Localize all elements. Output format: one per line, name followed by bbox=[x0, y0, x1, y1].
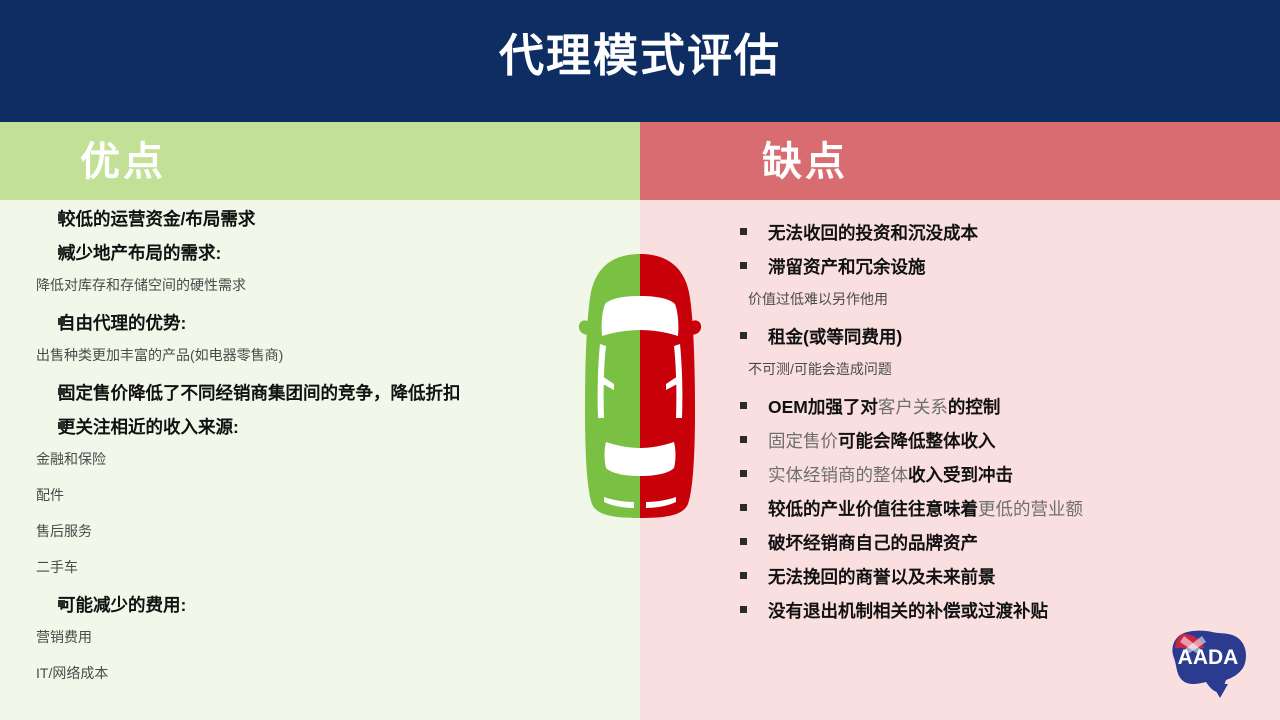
aada-australia-logo: AADA bbox=[1160, 612, 1256, 704]
bullet-square-icon bbox=[58, 388, 65, 395]
list-item: 较低的运营资金/布局需求 bbox=[0, 208, 255, 230]
list-item-label: 较低的运营资金/布局需求 bbox=[58, 208, 255, 230]
cons-heading: 缺点 bbox=[762, 128, 848, 198]
bullet-square-icon bbox=[740, 402, 747, 409]
list-subitem: IT/网络成本 bbox=[0, 664, 108, 682]
bullet-square-icon bbox=[58, 422, 65, 429]
list-item-label: OEM加强了对客户关系的控制 bbox=[768, 396, 1000, 418]
list-item-label: 租金(或等同费用) bbox=[768, 326, 902, 348]
list-item-label: 固定售价可能会降低整体收入 bbox=[768, 430, 996, 452]
car-top-view-split-icon bbox=[578, 252, 702, 520]
list-item-label: 没有退出机制相关的补偿或过渡补贴 bbox=[768, 600, 1048, 622]
list-item: 自由代理的优势: bbox=[0, 312, 186, 334]
bullet-square-icon bbox=[58, 318, 65, 325]
list-subitem-label: 金融和保险 bbox=[36, 450, 106, 468]
list-item-label: 自由代理的优势: bbox=[58, 312, 186, 334]
list-item-label: 滞留资产和冗余设施 bbox=[768, 256, 926, 278]
list-subitem: 出售种类更加丰富的产品(如电器零售商) bbox=[0, 346, 283, 364]
bullet-square-icon bbox=[740, 332, 747, 339]
list-item: 更关注相近的收入来源: bbox=[0, 416, 239, 438]
list-item: 较低的产业价值往往意味着更低的营业额 bbox=[640, 498, 1083, 520]
list-item: 无法收回的投资和沉没成本 bbox=[640, 222, 978, 244]
list-item-label: 实体经销商的整体收入受到冲击 bbox=[768, 464, 1013, 486]
list-item-label: 无法挽回的商誉以及未来前景 bbox=[768, 566, 996, 588]
list-item: 没有退出机制相关的补偿或过渡补贴 bbox=[640, 600, 1048, 622]
list-subitem: 降低对库存和存储空间的硬性需求 bbox=[0, 276, 246, 294]
pros-list: 较低的运营资金/布局需求减少地产布局的需求:降低对库存和存储空间的硬性需求自由代… bbox=[0, 200, 600, 720]
bullet-square-icon bbox=[58, 214, 65, 221]
bullet-square-icon bbox=[740, 470, 747, 477]
list-subitem-label: 不可测/可能会造成问题 bbox=[748, 360, 892, 378]
list-subitem: 金融和保险 bbox=[0, 450, 106, 468]
cons-header-band bbox=[640, 122, 1280, 200]
bullet-square-icon bbox=[740, 228, 747, 235]
list-subitem: 营销费用 bbox=[0, 628, 92, 646]
list-item-label: 较低的产业价值往往意味着更低的营业额 bbox=[768, 498, 1083, 520]
list-subitem-label: 出售种类更加丰富的产品(如电器零售商) bbox=[36, 346, 283, 364]
list-item-label: 减少地产布局的需求: bbox=[58, 242, 221, 264]
bullet-square-icon bbox=[740, 262, 747, 269]
slide-root: 代理模式评估 优点 缺点 较低的运营资金/布局需求减少地产布局的需求:降低对库存… bbox=[0, 0, 1280, 720]
list-item-label: 无法收回的投资和沉没成本 bbox=[768, 222, 978, 244]
list-item-label: 破坏经销商自己的品牌资产 bbox=[768, 532, 978, 554]
list-subitem-label: 营销费用 bbox=[36, 628, 92, 646]
list-item: 破坏经销商自己的品牌资产 bbox=[640, 532, 978, 554]
list-subitem-label: 配件 bbox=[36, 486, 64, 504]
list-subitem: 配件 bbox=[0, 486, 64, 504]
bullet-square-icon bbox=[740, 572, 747, 579]
list-item: 可能减少的费用: bbox=[0, 594, 186, 616]
list-item: 减少地产布局的需求: bbox=[0, 242, 221, 264]
list-subitem-label: 二手车 bbox=[36, 558, 78, 576]
bullet-square-icon bbox=[58, 600, 65, 607]
pros-heading: 优点 bbox=[80, 128, 166, 198]
list-subitem: 售后服务 bbox=[0, 522, 92, 540]
list-subitem: 二手车 bbox=[0, 558, 78, 576]
logo-wordmark: AADA bbox=[1178, 646, 1239, 669]
bullet-square-icon bbox=[58, 248, 65, 255]
bullet-square-icon bbox=[740, 504, 747, 511]
bullet-square-icon bbox=[740, 538, 747, 545]
list-item: 固定售价降低了不同经销商集团间的竞争，降低折扣 bbox=[0, 382, 461, 404]
list-subitem-label: 降低对库存和存储空间的硬性需求 bbox=[36, 276, 246, 294]
list-subitem-label: 售后服务 bbox=[36, 522, 92, 540]
list-item-label: 可能减少的费用: bbox=[58, 594, 186, 616]
list-item: 无法挽回的商誉以及未来前景 bbox=[640, 566, 996, 588]
list-item-label: 更关注相近的收入来源: bbox=[58, 416, 239, 438]
bullet-square-icon bbox=[740, 436, 747, 443]
list-subitem-label: 价值过低难以另作他用 bbox=[748, 290, 888, 308]
bullet-square-icon bbox=[740, 606, 747, 613]
page-title: 代理模式评估 bbox=[0, 26, 1280, 86]
list-item-label: 固定售价降低了不同经销商集团间的竞争，降低折扣 bbox=[58, 382, 461, 404]
list-subitem-label: IT/网络成本 bbox=[36, 664, 108, 682]
